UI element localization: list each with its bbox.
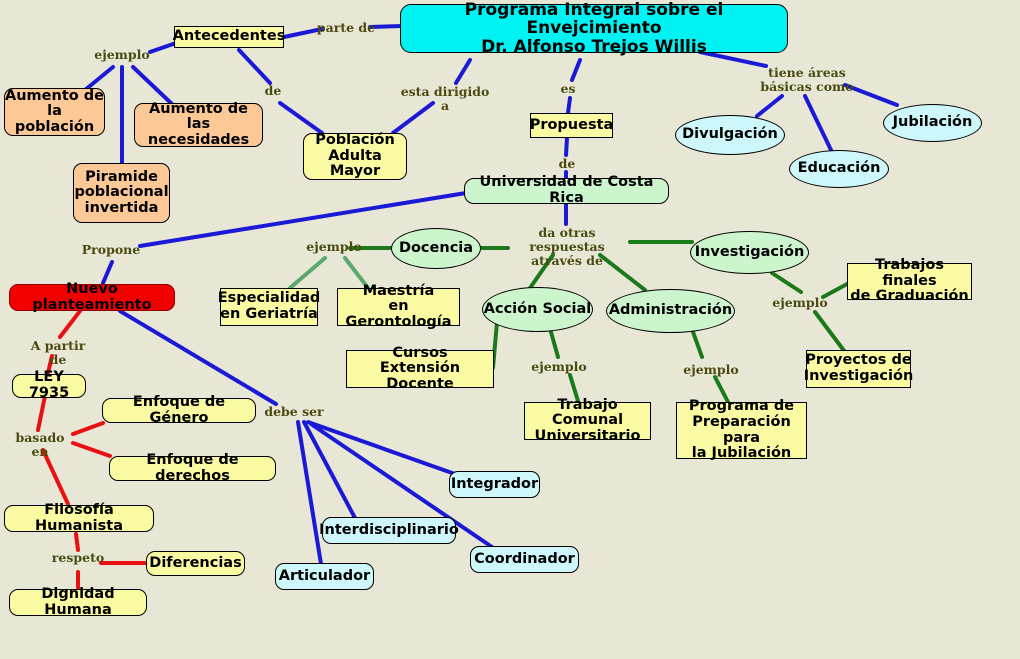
node-label: Educación <box>798 161 881 177</box>
edge-debeser-interdisciplinario <box>304 422 355 518</box>
link-label-ejemplo-accion-social: ejemplo <box>528 360 590 374</box>
node-educacion[interactable]: Educación <box>789 150 889 188</box>
node-label: Docencia <box>399 241 473 257</box>
edge-investigacion-ejemploinv <box>772 273 801 292</box>
edge-ejemplo-aumentonecesidades <box>133 67 172 104</box>
node-aumento-poblacion[interactable]: Aumento de la población <box>4 88 105 136</box>
link-label-a-partir-de: A partir de <box>22 339 94 367</box>
node-label: Acción Social <box>484 302 591 318</box>
node-jubilacion[interactable]: Jubilación <box>883 104 982 142</box>
link-label-esta-dirigido-a: esta dirigido a <box>400 85 490 113</box>
node-antecedentes[interactable]: Antecedentes <box>174 26 284 48</box>
node-label: Cursos Extensión Docente <box>347 346 493 393</box>
edge-antecedentes-de <box>239 50 270 83</box>
node-interdisciplinario[interactable]: Interdisciplinario <box>322 517 456 544</box>
node-aumento-necesidades[interactable]: Aumento de las necesidades <box>134 103 263 147</box>
link-label-ejemplo-docencia: ejemplo <box>303 240 365 254</box>
link-label-da-otras-respuestas: da otras respuestas através de <box>503 226 631 268</box>
node-label: Maestría en Gerontología <box>338 284 459 331</box>
node-trabajos-finales-graduacion[interactable]: Trabajos finales de Graduación <box>847 263 972 300</box>
node-label: Universidad de Costa Rica <box>465 175 668 206</box>
node-label: Especialidad en Geriatría <box>218 291 321 322</box>
node-label: Propuesta <box>530 118 614 134</box>
edge-filosofia-respeto <box>76 534 78 550</box>
node-label: Diferencias <box>149 556 241 572</box>
node-label: LEY 7935 <box>13 370 85 401</box>
edge-ejemploinv-proyectos <box>815 312 845 352</box>
edge-titulo-es <box>572 60 580 80</box>
edge-es-propuesta <box>568 98 570 113</box>
link-label-propone: Propone <box>80 243 142 257</box>
node-articulador[interactable]: Articulador <box>275 563 374 590</box>
node-coordinador[interactable]: Coordinador <box>470 546 579 573</box>
node-label: Integrador <box>451 477 538 493</box>
node-trabajo-comunal-universitario[interactable]: Trabajo Comunal Universitario <box>524 402 651 440</box>
node-label: Coordinador <box>474 552 575 568</box>
edge-propone-nuevo <box>103 262 112 283</box>
node-enfoque-de-genero[interactable]: Enfoque de Género <box>102 398 256 423</box>
link-label-tiene-areas-basicas-como: tiene áreas básicas como <box>756 66 858 94</box>
link-label-es: es <box>557 82 579 96</box>
node-dignidad-humana[interactable]: Dignidad Humana <box>9 589 147 616</box>
node-label: Jubilación <box>893 115 973 131</box>
node-administracion[interactable]: Administración <box>606 289 735 333</box>
node-label: Filosofía Humanista <box>5 503 153 534</box>
node-cursos-extension-docente[interactable]: Cursos Extensión Docente <box>346 350 494 388</box>
node-label: Trabajo Comunal Universitario <box>525 398 650 445</box>
node-label: Articulador <box>279 569 370 585</box>
node-docencia[interactable]: Docencia <box>391 228 481 269</box>
edge-propuesta-deprop <box>566 138 567 155</box>
node-label: Divulgación <box>682 127 778 143</box>
edge-tieneareas-divulgacion <box>757 96 782 116</box>
edge-tieneareas-educacion <box>805 96 831 150</box>
node-investigacion[interactable]: Investigación <box>690 231 809 274</box>
node-label: Programa Integral sobre el Envejcimiento… <box>401 1 787 56</box>
node-label: Dignidad Humana <box>10 587 146 618</box>
link-label-respeto: respeto <box>50 551 106 565</box>
link-label-parte-de: parte de <box>311 21 381 35</box>
node-label: Enfoque de Género <box>103 395 255 426</box>
node-label: Aumento de la población <box>5 89 104 136</box>
node-piramide-poblacional-invertida[interactable]: Piramide poblacional invertida <box>73 163 170 223</box>
link-label-debe-ser: debe ser <box>264 405 324 419</box>
edge-administracion-ejemploadm <box>693 332 702 357</box>
node-integrador[interactable]: Integrador <box>449 471 540 498</box>
edge-debeser-articulador <box>298 422 321 564</box>
node-label: Investigación <box>695 245 805 261</box>
link-label-ejemplo-administracion: ejemplo <box>680 363 742 377</box>
node-label: Aumento de las necesidades <box>135 102 262 149</box>
edge-accion-ejemploacc <box>551 332 558 357</box>
link-label-de-antecedentes: de <box>262 84 284 98</box>
node-divulgacion[interactable]: Divulgación <box>675 115 785 155</box>
edge-basadoen-genero <box>73 423 103 434</box>
link-label-ejemplo-investigacion: ejemplo <box>769 296 831 310</box>
node-accion-social[interactable]: Acción Social <box>482 287 593 332</box>
node-programa-integral[interactable]: Programa Integral sobre el Envejcimiento… <box>400 4 788 53</box>
edge-basadoen-derechos <box>73 443 110 456</box>
edge-debeser-integrador <box>308 422 455 474</box>
node-label: Trabajos finales de Graduación <box>848 258 971 305</box>
node-nuevo-planteamiento[interactable]: Nuevo planteamiento <box>9 284 175 311</box>
node-label: Administración <box>609 303 732 319</box>
edge-nuevo-apartirde <box>60 311 80 337</box>
node-universidad-de-costa-rica[interactable]: Universidad de Costa Rica <box>464 178 669 204</box>
node-label: Programa de Preparación para la Jubilaci… <box>677 399 806 462</box>
node-especialidad-en-geriatria[interactable]: Especialidad en Geriatría <box>220 288 318 326</box>
node-label: Enfoque de derechos <box>110 453 275 484</box>
link-label-basado-en: basado en <box>6 431 74 459</box>
node-propuesta[interactable]: Propuesta <box>530 113 613 138</box>
node-enfoque-de-derechos[interactable]: Enfoque de derechos <box>109 456 276 481</box>
edge-ejemplo-aumentopoblacion <box>85 67 113 90</box>
node-proyectos-de-investigacion[interactable]: Proyectos de Investigación <box>806 350 911 388</box>
concept-map-canvas: Programa Integral sobre el Envejcimiento… <box>0 0 1020 659</box>
node-label: Nuevo planteamiento <box>10 282 174 313</box>
node-label: Proyectos de Investigación <box>804 353 914 384</box>
edge-docencia-especialidad <box>290 258 325 288</box>
link-label-ejemplo-antecedentes: ejemplo <box>91 48 153 62</box>
node-programa-preparacion-jubilacion[interactable]: Programa de Preparación para la Jubilaci… <box>676 402 807 459</box>
node-label: Interdisciplinario <box>319 523 459 539</box>
node-label: Antecedentes <box>173 29 286 45</box>
node-filosofia-humanista[interactable]: Filosofía Humanista <box>4 505 154 532</box>
node-label: Piramide poblacional invertida <box>74 170 168 217</box>
edge-de-poblacion <box>280 103 322 133</box>
node-poblacion-adulta-mayor[interactable]: Población Adulta Mayor <box>303 133 407 180</box>
node-label: Población Adulta Mayor <box>304 133 406 180</box>
edge-titulo-estadirigido <box>456 60 470 83</box>
node-maestria-en-gerontologia[interactable]: Maestría en Gerontología <box>337 288 460 326</box>
node-diferencias[interactable]: Diferencias <box>146 551 245 576</box>
node-ley-7935[interactable]: LEY 7935 <box>12 374 86 398</box>
link-label-de-propuesta: de <box>556 157 578 171</box>
